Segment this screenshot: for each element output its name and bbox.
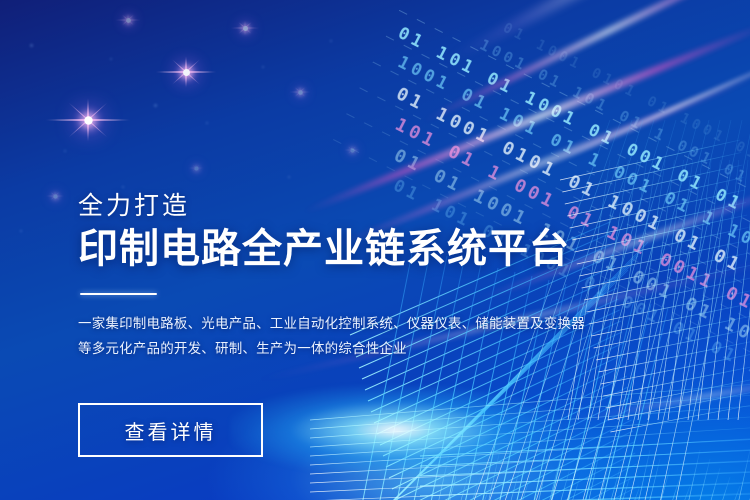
hero-text-block: 全力打造 印制电路全产业链系统平台 一家集印制电路板、光电产品、工业自动化控制系… (78, 193, 578, 361)
hero-banner: 01 101 01 1001 01 001 01 01 1001 0101 01… (0, 0, 750, 500)
dust-particle-icon (206, 122, 208, 124)
dust-particle-icon (20, 230, 22, 232)
dust-particle-icon (110, 58, 112, 60)
hero-description-line-2: 等多元化产品的开发、研制、生产为一体的综合性企业 (78, 336, 578, 361)
dust-particle-icon (330, 40, 332, 42)
dust-particle-icon (154, 104, 157, 107)
dust-particle-icon (288, 176, 290, 178)
title-divider (80, 293, 157, 295)
page-title: 印制电路全产业链系统平台 (78, 227, 578, 272)
dust-particle-icon (122, 186, 124, 188)
view-details-button[interactable]: 查看详情 (78, 403, 263, 457)
hero-description: 一家集印制电路板、光电产品、工业自动化控制系统、仪器仪表、储能装置及变换器 等多… (78, 311, 578, 361)
hero-description-line-1: 一家集印制电路板、光电产品、工业自动化控制系统、仪器仪表、储能装置及变换器 (78, 311, 578, 336)
view-details-button-label: 查看详情 (125, 416, 217, 445)
hero-eyebrow: 全力打造 (78, 193, 578, 221)
dust-particle-icon (64, 150, 66, 152)
dust-particle-icon (30, 44, 33, 47)
dust-particle-icon (262, 66, 264, 68)
